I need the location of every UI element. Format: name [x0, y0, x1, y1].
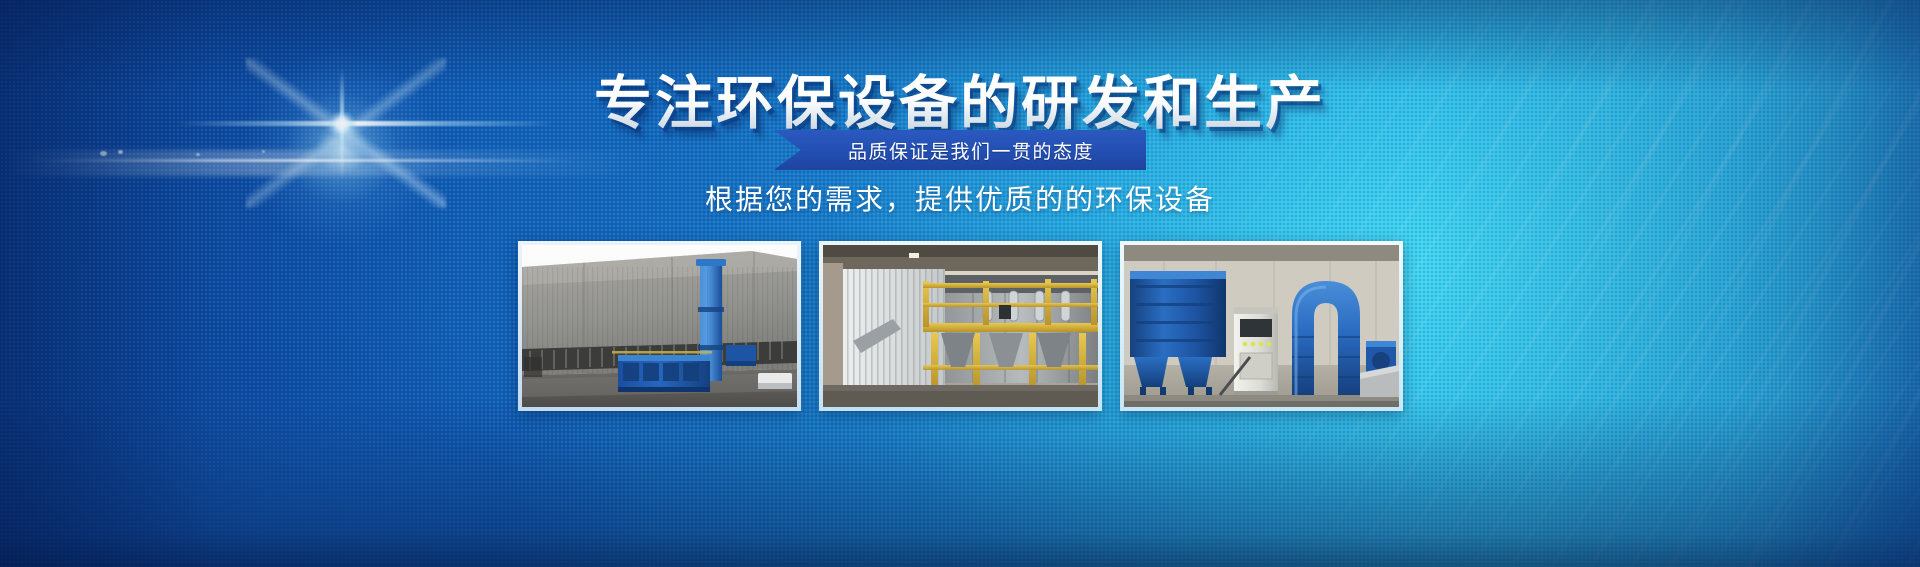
banner-subtitle: 根据您的需求，提供优质的的环保设备	[0, 178, 1920, 218]
banner-content: 专注环保设备的研发和生产 品质保证是我们一贯的态度 根据您的需求，提供优质的的环…	[0, 0, 1920, 567]
photo-dust-collector[interactable]	[1120, 241, 1403, 411]
photo-frame	[522, 245, 797, 407]
photo-gallery	[0, 241, 1920, 411]
photo-workshop-exterior[interactable]	[518, 241, 801, 411]
photo-artwork-production-line	[823, 245, 1098, 407]
promo-banner: 专注环保设备的研发和生产 品质保证是我们一贯的态度 根据您的需求，提供优质的的环…	[0, 0, 1920, 567]
photo-artwork-workshop	[522, 245, 797, 407]
ribbon-shape: 品质保证是我们一贯的态度	[774, 130, 1146, 170]
banner-headline: 专注环保设备的研发和生产	[0, 56, 1920, 140]
ribbon-banner: 品质保证是我们一贯的态度	[774, 130, 1146, 170]
photo-production-line[interactable]	[819, 241, 1102, 411]
photo-artwork-dust-collector	[1124, 245, 1399, 407]
photo-frame	[1124, 245, 1399, 407]
ribbon-label: 品质保证是我们一贯的态度	[826, 137, 1094, 164]
photo-frame	[823, 245, 1098, 407]
